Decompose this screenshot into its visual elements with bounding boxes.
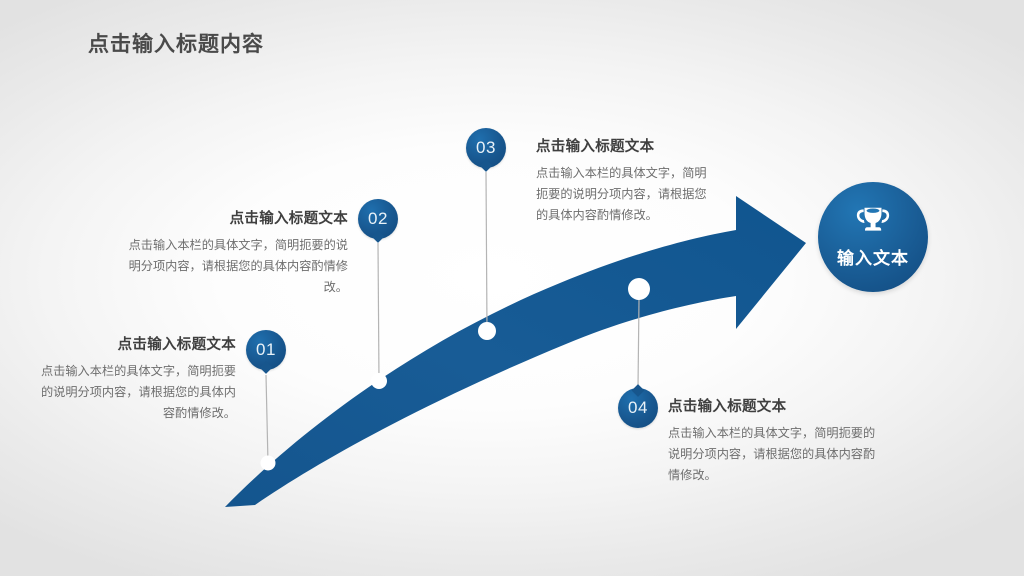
- step-number-04: 04: [628, 398, 648, 418]
- step-body-01: 点击输入本栏的具体文字，简明扼要的说明分项内容，请根据您的具体内容酌情修改。: [36, 361, 236, 424]
- step-number-02: 02: [368, 209, 388, 229]
- step-number-01: 01: [256, 340, 276, 360]
- arrow-node-dot-03: [478, 322, 496, 340]
- arrow-node-dot-04: [628, 278, 650, 300]
- step-badge-03[interactable]: 03: [466, 128, 506, 168]
- connector-line-01: [266, 375, 268, 463]
- step-text-03: 点击输入标题文本 点击输入本栏的具体文字，简明扼要的说明分项内容，请根据您的具体…: [536, 135, 714, 226]
- step-heading-03: 点击输入标题文本: [536, 135, 714, 156]
- step-number-03: 03: [476, 138, 496, 158]
- step-badge-02[interactable]: 02: [358, 199, 398, 239]
- step-body-04: 点击输入本栏的具体文字，简明扼要的说明分项内容，请根据您的具体内容酌情修改。: [668, 423, 881, 486]
- goal-circle[interactable]: 输入文本: [818, 182, 928, 292]
- trophy-icon: [854, 206, 892, 240]
- slide-canvas: 点击输入标题内容 01 02 03 04: [0, 0, 1024, 576]
- step-heading-01: 点击输入标题文本: [36, 333, 236, 354]
- step-badge-04[interactable]: 04: [618, 388, 658, 428]
- step-text-02: 点击输入标题文本 点击输入本栏的具体文字，简明扼要的说明分项内容，请根据您的具体…: [123, 207, 348, 298]
- arrow-node-dot-01: [261, 456, 276, 471]
- step-heading-02: 点击输入标题文本: [123, 207, 348, 228]
- step-badge-01[interactable]: 01: [246, 330, 286, 370]
- step-body-02: 点击输入本栏的具体文字，简明扼要的说明分项内容，请根据您的具体内容酌情修改。: [123, 235, 348, 298]
- arrow-node-dot-02: [371, 373, 387, 389]
- step-text-04: 点击输入标题文本 点击输入本栏的具体文字，简明扼要的说明分项内容，请根据您的具体…: [668, 395, 881, 486]
- step-text-01: 点击输入标题文本 点击输入本栏的具体文字，简明扼要的说明分项内容，请根据您的具体…: [36, 333, 236, 424]
- step-body-03: 点击输入本栏的具体文字，简明扼要的说明分项内容，请根据您的具体内容酌情修改。: [536, 163, 714, 226]
- goal-label: 输入文本: [837, 244, 909, 269]
- step-heading-04: 点击输入标题文本: [668, 395, 881, 416]
- connector-line-02: [378, 243, 379, 381]
- connector-line-03: [486, 172, 487, 331]
